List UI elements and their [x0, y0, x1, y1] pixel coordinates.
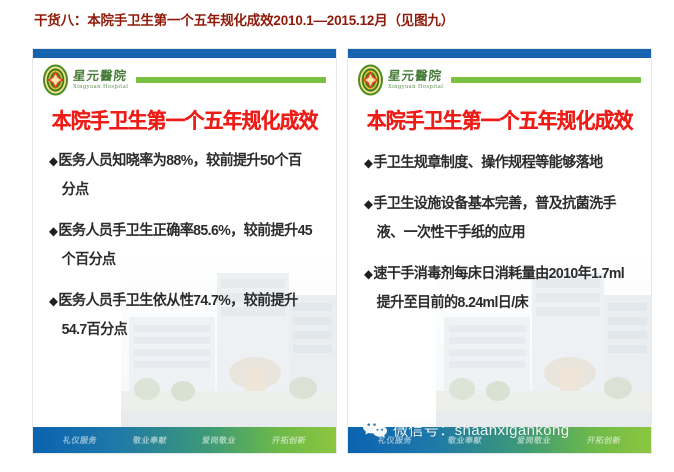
bullet-item: ◆医务人员知晓率为88%，较前提升50个百分点 — [49, 147, 314, 205]
slide-footer-left: 礼仪服务 敬业奉献 爱岗敬业 开拓创新 — [33, 427, 336, 453]
hospital-emblem-icon — [42, 64, 69, 96]
bullet-text: 速干手消毒剂每床日消耗量由2010年1.7ml提升至目前的8.24ml日/床 — [373, 266, 624, 311]
footer-word: 敬业奉献 — [132, 435, 168, 446]
bullet-text: 医务人员手卫生依从性74.7%，较前提升54.7百分点 — [58, 293, 297, 338]
bullet-text: 医务人员手卫生正确率85.6%，较前提升45个百分点 — [58, 223, 312, 268]
logo-name-cn: 星元醫院 — [72, 70, 129, 83]
footer-word: 爱岗敬业 — [202, 435, 238, 446]
page-heading: 干货八：本院手卫生第一个五年规化成效2010.1—2015.12月（见图九） — [34, 12, 654, 30]
slide-top-blue-bar — [33, 49, 336, 58]
bullet-text: 手卫生规章制度、操作规程等能够落地 — [373, 155, 602, 171]
bullet-text: 手卫生设施设备基本完善，普及抗菌洗手液、一次性干手纸的应用 — [373, 196, 616, 241]
hospital-emblem-icon — [357, 64, 384, 96]
logo-wordmark-right: 星元醫院 Xingyuan Hospital — [388, 70, 443, 91]
bullet-list-left: ◆医务人员知晓率为88%，较前提升50个百分点 ◆医务人员手卫生正确率85.6%… — [33, 147, 336, 357]
header-green-rule — [451, 77, 641, 83]
screenshot-root: 干货八：本院手卫生第一个五年规化成效2010.1—2015.12月（见图九） — [0, 0, 674, 472]
bullet-diamond-icon: ◆ — [364, 267, 372, 281]
bullet-diamond-icon: ◆ — [49, 154, 57, 168]
bullet-diamond-icon: ◆ — [364, 156, 372, 170]
footer-word: 爱岗敬业 — [517, 435, 553, 446]
logo-name-cn: 星元醫院 — [387, 70, 444, 83]
bullet-item: ◆手卫生规章制度、操作规程等能够落地 — [364, 149, 629, 178]
logo-name-en: Xingyuan Hospital — [388, 85, 443, 90]
footer-word: 开拓创新 — [271, 435, 307, 446]
slide-header-left: 星元醫院 Xingyuan Hospital — [33, 58, 336, 102]
bullet-item: ◆医务人员手卫生正确率85.6%，较前提升45个百分点 — [49, 217, 314, 275]
slide-top-blue-bar — [348, 49, 651, 58]
slide-left: 星元醫院 Xingyuan Hospital 本院手卫生第一个五年规化成效 — [32, 48, 337, 454]
slide-title-right: 本院手卫生第一个五年规化成效 — [357, 105, 642, 135]
slide-title-left: 本院手卫生第一个五年规化成效 — [42, 105, 327, 135]
bullet-diamond-icon: ◆ — [49, 294, 57, 308]
hospital-logo-left: 星元醫院 Xingyuan Hospital — [42, 64, 128, 96]
hospital-logo-right: 星元醫院 Xingyuan Hospital — [357, 64, 443, 96]
slide-header-right: 星元醫院 Xingyuan Hospital — [348, 58, 651, 102]
bullet-diamond-icon: ◆ — [49, 224, 57, 238]
footer-word: 礼仪服务 — [62, 435, 98, 446]
header-green-rule — [136, 77, 326, 83]
bullet-item: ◆医务人员手卫生依从性74.7%，较前提升54.7百分点 — [49, 287, 314, 345]
slide-footer-right: 礼仪服务 敬业奉献 爱岗敬业 开拓创新 — [348, 427, 651, 453]
bullet-text: 医务人员知晓率为88%，较前提升50个百分点 — [58, 153, 301, 198]
logo-name-en: Xingyuan Hospital — [73, 85, 128, 90]
logo-wordmark-left: 星元醫院 Xingyuan Hospital — [73, 70, 128, 91]
slide-pair-container: 星元醫院 Xingyuan Hospital 本院手卫生第一个五年规化成效 — [32, 48, 652, 454]
footer-word: 开拓创新 — [586, 435, 622, 446]
bullet-item: ◆手卫生设施设备基本完善，普及抗菌洗手液、一次性干手纸的应用 — [364, 190, 629, 248]
bullet-item: ◆速干手消毒剂每床日消耗量由2010年1.7ml提升至目前的8.24ml日/床 — [364, 260, 629, 318]
footer-word: 礼仪服务 — [377, 435, 413, 446]
footer-word: 敬业奉献 — [447, 435, 483, 446]
slide-right: 星元醫院 Xingyuan Hospital 本院手卫生第一个五年规化成效 — [347, 48, 652, 454]
bullet-list-right: ◆手卫生规章制度、操作规程等能够落地 ◆手卫生设施设备基本完善，普及抗菌洗手液、… — [348, 149, 651, 330]
bullet-diamond-icon: ◆ — [364, 197, 372, 211]
